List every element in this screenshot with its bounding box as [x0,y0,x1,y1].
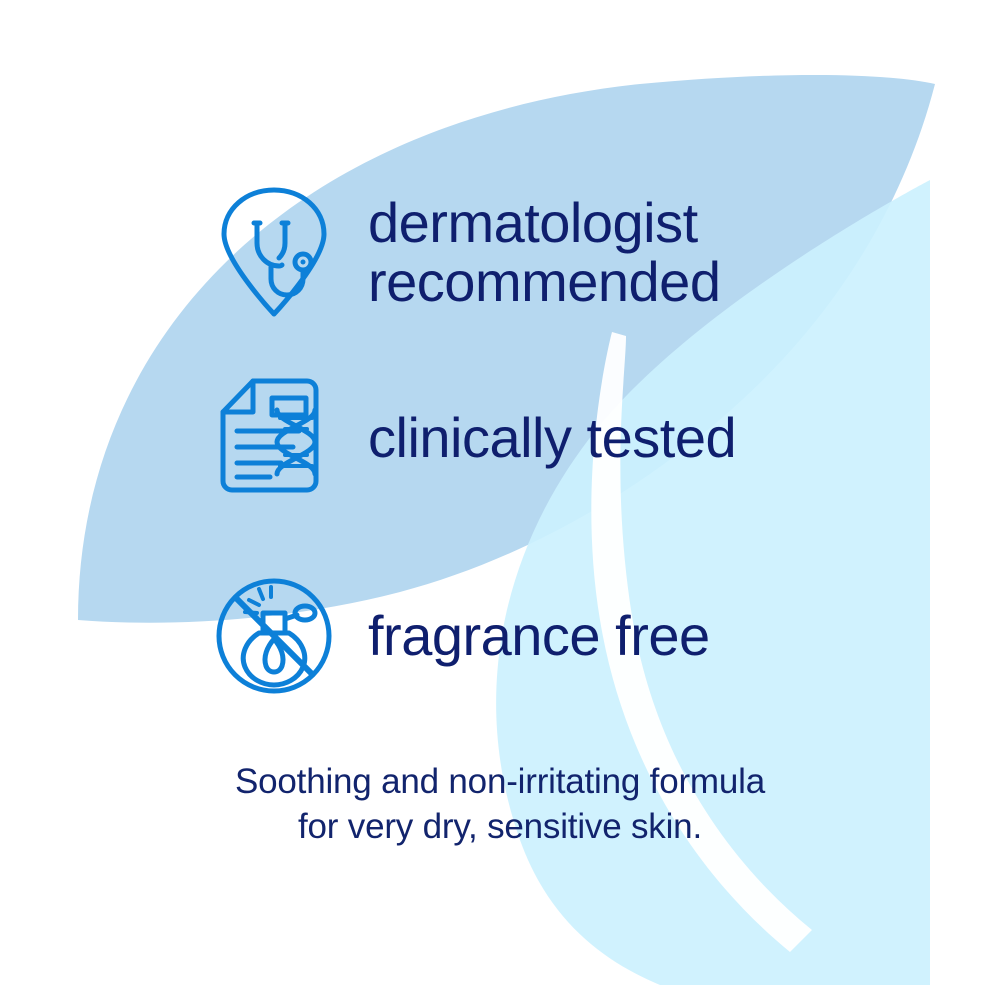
benefit-label-clinically-tested: clinically tested [368,408,736,467]
benefit-item-dermatologist-recommended: dermatologist recommended [208,186,720,318]
benefit-item-fragrance-free: fragrance free [208,570,710,702]
benefit-label-dermatologist-recommended: dermatologist recommended [368,193,720,312]
stethoscope-location-pin-icon [208,186,340,318]
promo-panel: dermatologist recommended [0,0,1000,1000]
no-fragrance-bottle-icon [208,570,340,702]
clipboard-dna-icon [208,372,340,504]
benefit-label-fragrance-free: fragrance free [368,606,710,665]
benefit-item-clinically-tested: clinically tested [208,372,736,504]
footnote-text: Soothing and non-irritating formula for … [0,760,1000,850]
